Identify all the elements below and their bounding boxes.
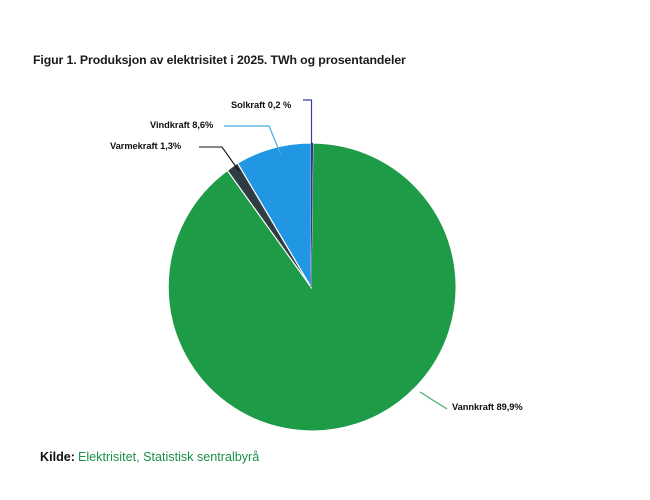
pie-label-vannkraft: Vannkraft 89,9% <box>452 402 523 412</box>
pie-label-solkraft: Solkraft 0,2 % <box>231 100 291 110</box>
leader-line-solkraft <box>303 100 312 143</box>
pie-label-varmekraft: Varmekraft 1,3% <box>110 141 181 151</box>
source-link[interactable]: Elektrisitet, Statistisk sentralbyrå <box>78 450 259 464</box>
source-line: Kilde:Elektrisitet, Statistisk sentralby… <box>40 450 259 464</box>
pie-label-vindkraft: Vindkraft 8,6% <box>150 120 213 130</box>
leader-line-vannkraft <box>420 392 447 409</box>
figure-container: Figur 1. Produksjon av elektrisitet i 20… <box>0 0 650 500</box>
pie-chart-svg <box>0 0 650 500</box>
source-label: Kilde: <box>40 450 75 464</box>
